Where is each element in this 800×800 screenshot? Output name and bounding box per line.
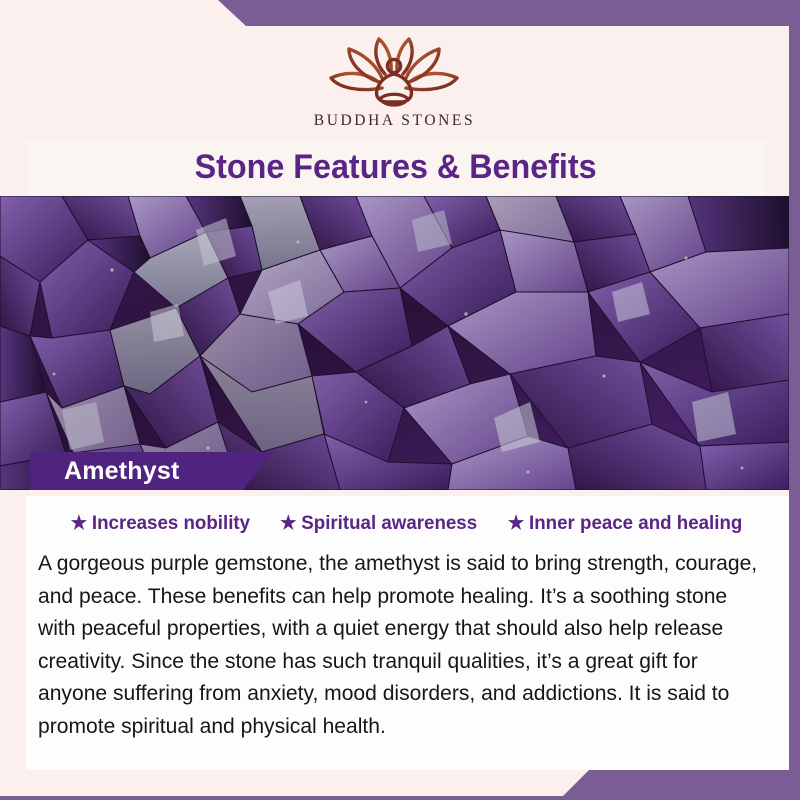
stone-name-label: Amethyst	[64, 457, 180, 486]
feature-list: ★ Increases nobility ★ Spiritual awarene…	[26, 496, 789, 535]
lotus-meditation-figure-icon	[319, 32, 469, 110]
title-band: Stone Features & Benefits	[26, 139, 766, 196]
feature-item-2: ★ Inner peace and healing	[508, 512, 742, 535]
stone-name-banner: Amethyst	[30, 452, 272, 490]
star-icon: ★	[508, 514, 524, 533]
feature-item-0: ★ Increases nobility	[71, 512, 250, 535]
brand-header: BUDDHA STONES	[0, 26, 789, 139]
star-icon: ★	[280, 514, 296, 533]
feature-label: Spiritual awareness	[301, 512, 477, 535]
feature-item-1: ★ Spiritual awareness	[280, 512, 477, 535]
brand-logo: BUDDHA STONES	[314, 32, 475, 130]
stone-description: A gorgeous purple gemstone, the amethyst…	[38, 547, 768, 742]
star-icon: ★	[71, 514, 87, 533]
feature-label: Increases nobility	[92, 512, 250, 535]
stone-details-panel: ★ Increases nobility ★ Spiritual awarene…	[26, 496, 789, 770]
brand-name: BUDDHA STONES	[314, 112, 475, 130]
amethyst-hero-image	[0, 196, 789, 490]
page-title: Stone Features & Benefits	[195, 148, 597, 187]
feature-label: Inner peace and healing	[529, 512, 742, 535]
amethyst-crystal-geode-illustration	[0, 196, 789, 490]
